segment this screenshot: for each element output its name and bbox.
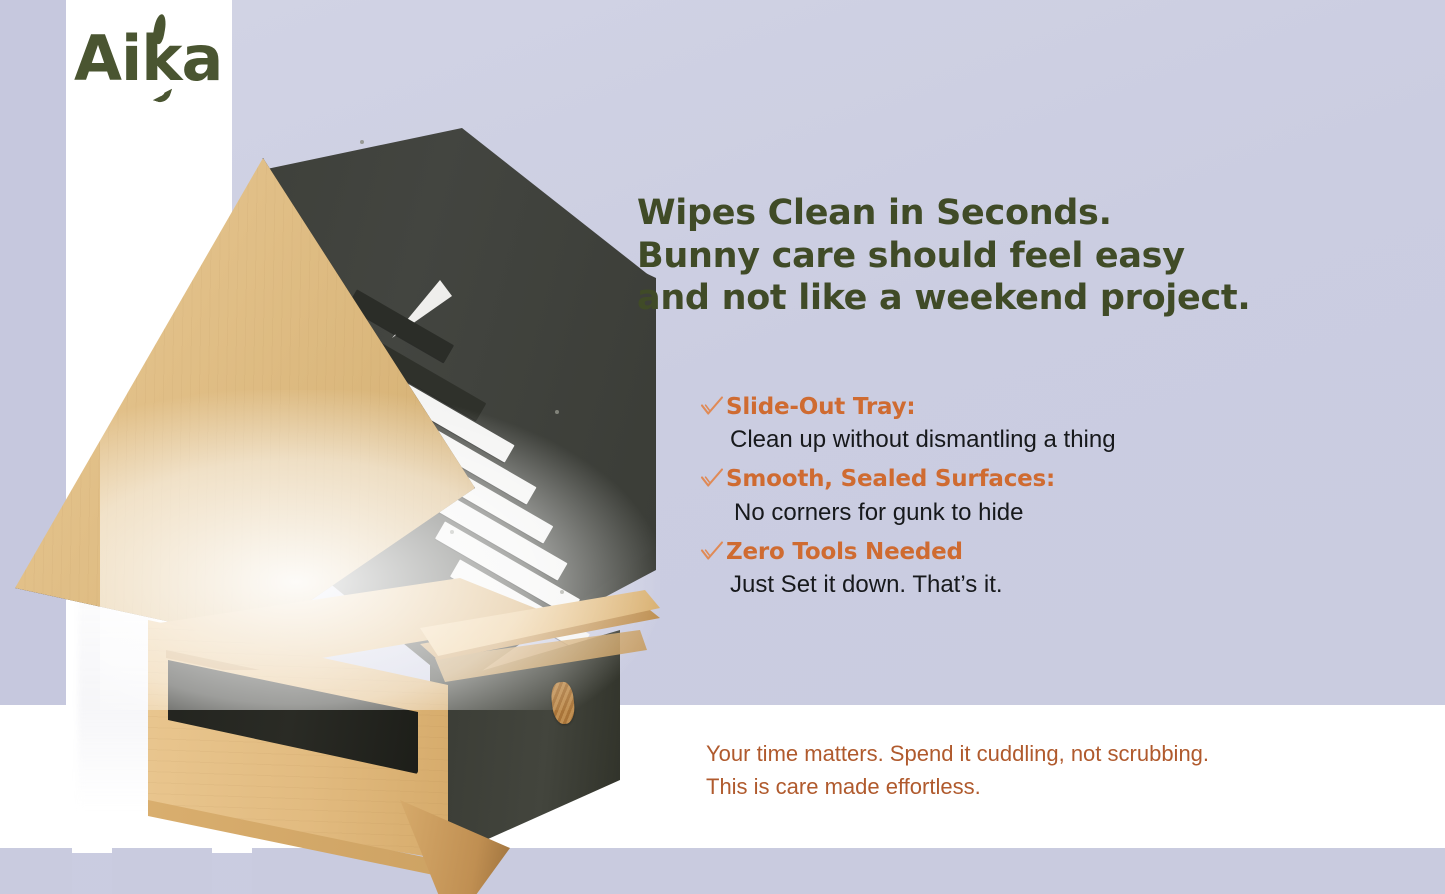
feature-item: Slide-Out Tray: Clean up without dismant… [700,392,1400,456]
feature-item: Zero Tools Needed Just Set it down. That… [700,537,1400,601]
logo-text-end: a [181,22,222,95]
feature-heading-row: Slide-Out Tray: [700,392,1400,422]
footer-line-2: This is care made effortless. [706,771,1406,804]
logo-k-bunny-glyph: k [141,28,181,90]
banner-canvas: Aika Aika [0,0,1445,894]
feature-heading: Zero Tools Needed [726,537,963,567]
feature-description: Clean up without dismantling a thing [730,423,1400,456]
brand-logo: Aika [74,28,222,90]
feature-heading: Slide-Out Tray: [726,392,915,422]
footer-line-1: Your time matters. Spend it cuddling, no… [706,738,1406,771]
feature-heading: Smooth, Sealed Surfaces: [726,464,1055,494]
check-outline-icon [700,467,726,489]
headline: Wipes Clean in Seconds. Bunny care shoul… [637,192,1397,320]
photo-white-wash [100,390,660,710]
headline-line-3: and not like a weekend project. [637,277,1397,320]
headline-line-2: Bunny care should feel easy [637,235,1397,278]
logo-text-a: Ai [74,22,141,95]
feature-heading-row: Zero Tools Needed [700,537,1400,567]
feature-item: Smooth, Sealed Surfaces: No corners for … [700,464,1400,528]
check-outline-icon [700,540,726,562]
feature-list: Slide-Out Tray: Clean up without dismant… [700,392,1400,609]
feature-heading-row: Smooth, Sealed Surfaces: [700,464,1400,494]
footer-message: Your time matters. Spend it cuddling, no… [706,738,1406,803]
check-outline-icon [700,395,726,417]
screw-dot [360,140,364,144]
feature-description: Just Set it down. That’s it. [730,568,1400,601]
feature-description: No corners for gunk to hide [734,496,1400,529]
headline-line-1: Wipes Clean in Seconds. [637,192,1397,235]
